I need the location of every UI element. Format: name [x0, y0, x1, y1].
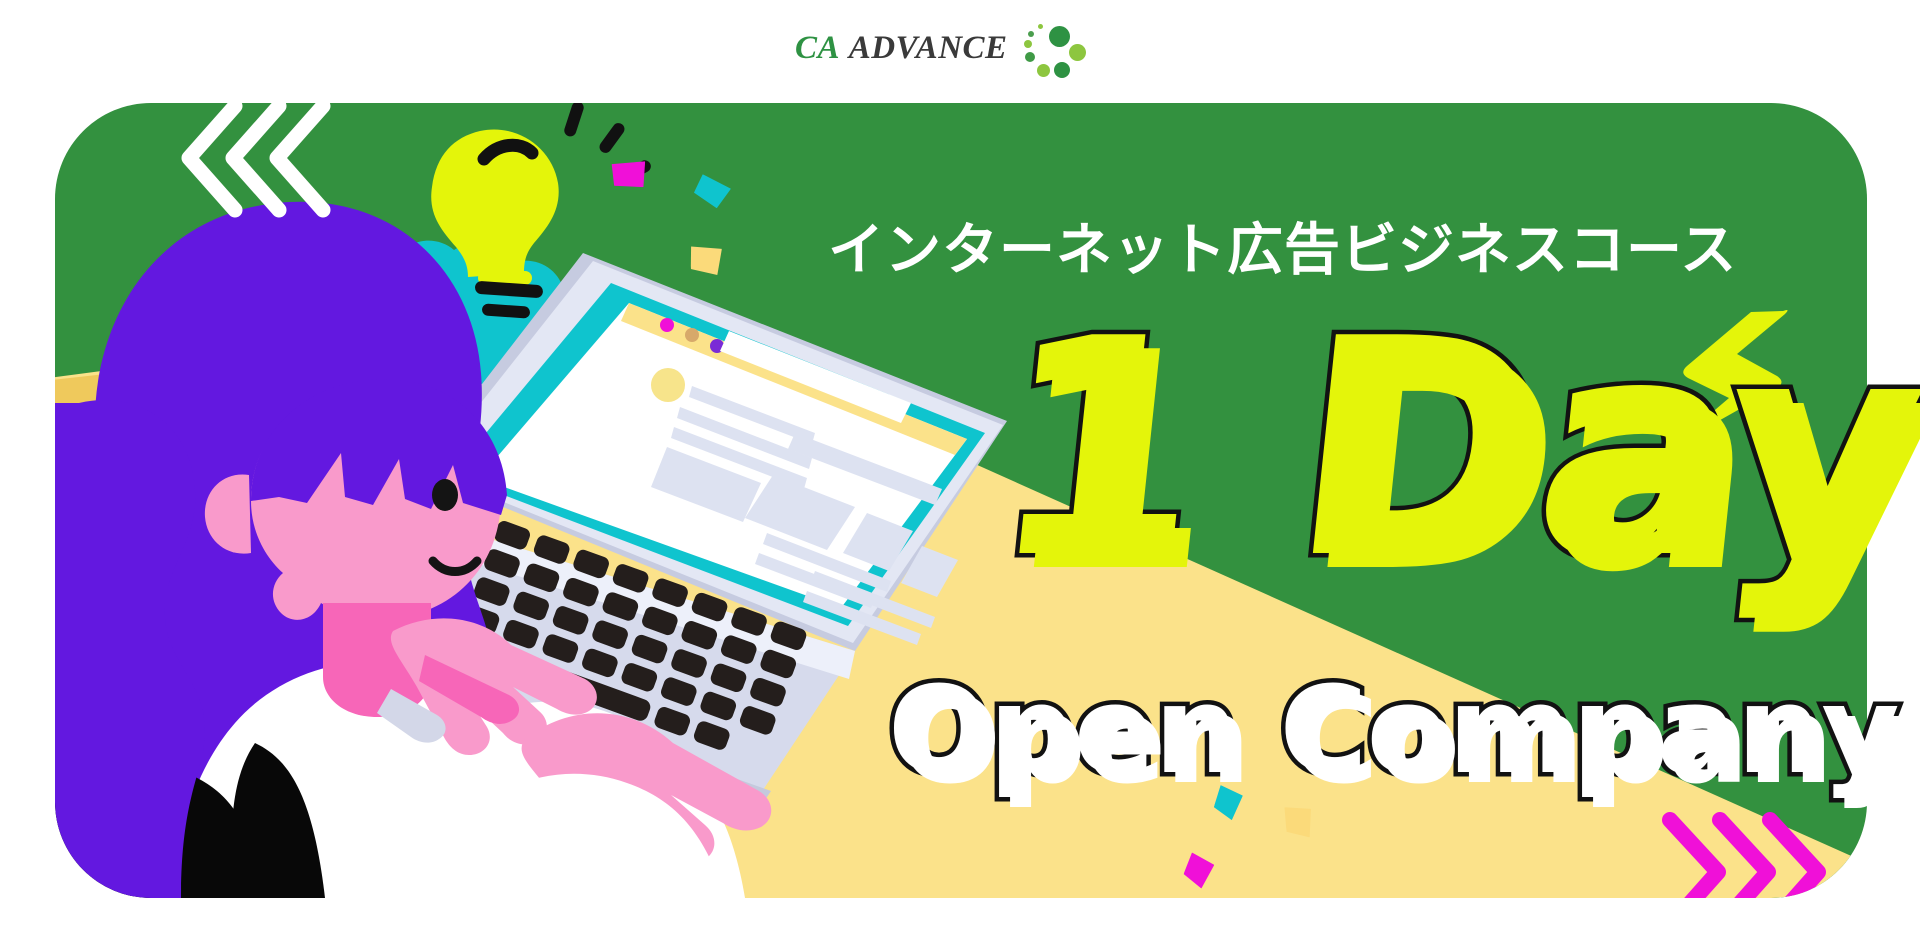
confetti-yellow-1	[688, 243, 724, 277]
logo-dot-8	[1038, 24, 1043, 29]
brand-logo[interactable]: CA ADVANCE	[795, 20, 1135, 76]
confetti-magenta-2	[1181, 852, 1216, 890]
logo-dot-6	[1024, 40, 1032, 48]
course-title: インターネット広告ビジネスコース	[828, 205, 1838, 286]
brand-logo-text: CA ADVANCE	[795, 30, 1008, 67]
logo-dot-1	[1049, 26, 1070, 47]
logo-dot-5	[1025, 52, 1035, 62]
logo-dot-4	[1037, 64, 1050, 77]
confetti-yellow-2	[1282, 803, 1315, 841]
banner-canvas: CA ADVANCE	[0, 0, 1920, 950]
confetti-magenta-1	[609, 156, 651, 194]
main-title-1day: 1 Day	[979, 300, 1920, 600]
logo-dot-2	[1069, 44, 1086, 61]
brand-logo-advance: ADVANCE	[849, 30, 1008, 66]
confetti-cyan-1	[692, 173, 733, 210]
brand-logo-ca: CA	[795, 30, 840, 66]
logo-dot-7	[1028, 31, 1034, 37]
sub-title-open-company: Open Company	[888, 672, 1899, 792]
ca-advance-dots-logo-icon	[1022, 22, 1078, 74]
logo-dot-3	[1054, 62, 1070, 78]
